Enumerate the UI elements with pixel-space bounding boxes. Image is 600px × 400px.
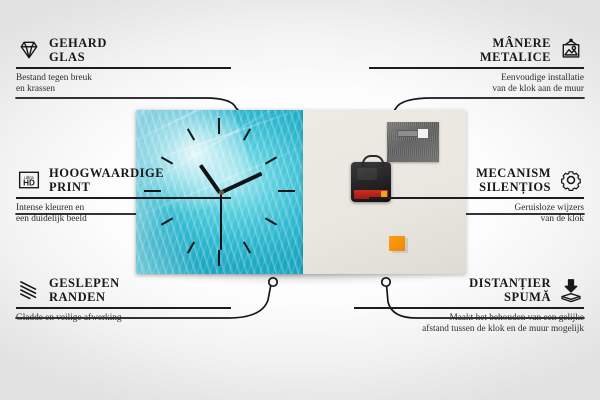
feature-title: GESLEPEN RANDEN bbox=[49, 276, 120, 304]
feature-rule bbox=[369, 197, 584, 199]
clock-tick-2 bbox=[265, 156, 277, 164]
diamond-icon bbox=[16, 37, 42, 63]
gear-icon bbox=[558, 167, 584, 193]
feature-title: MÂNERE METALICE bbox=[480, 36, 551, 64]
feature-description: Intense kleuren en een duidelijk beeld bbox=[16, 203, 231, 226]
diagonal-lines-icon bbox=[16, 277, 42, 303]
feature-header: MECANISM SILENȚIOS bbox=[369, 166, 584, 194]
feature-rule bbox=[369, 67, 584, 69]
feature-manere-metalice: MÂNERE METALICE Eenvoudige installatie v… bbox=[369, 36, 584, 96]
clock-tick-3 bbox=[278, 190, 295, 192]
feature-header: ultra HD HOOGWAARDIGE PRINT bbox=[16, 166, 231, 194]
feature-title: GEHARD GLAS bbox=[49, 36, 107, 64]
feature-title: MECANISM SILENȚIOS bbox=[476, 166, 551, 194]
feature-header: GESLEPEN RANDEN bbox=[16, 276, 231, 304]
feature-rule bbox=[16, 67, 231, 69]
hanger-slot-secondary bbox=[417, 128, 429, 139]
feature-description: Eenvoudige installatie van de klok aan d… bbox=[369, 73, 584, 96]
arrow-onto-layers-icon bbox=[558, 277, 584, 303]
clock-tick-4 bbox=[265, 217, 277, 225]
feature-gehard-glas: GEHARD GLAS Bestand tegen breuk en krass… bbox=[16, 36, 231, 96]
feature-title: HOOGWAARDIGE PRINT bbox=[49, 166, 164, 194]
clock-tick-1 bbox=[243, 128, 251, 140]
ultra-hd-icon: ultra HD bbox=[16, 167, 42, 193]
feature-hoogwaardige-print: ultra HD HOOGWAARDIGE PRINT Intense kleu… bbox=[16, 166, 231, 226]
feature-description: Geruisloze wijzers van de klok bbox=[369, 203, 584, 226]
feature-description: Bestand tegen breuk en krassen bbox=[16, 73, 231, 96]
clock-tick-7 bbox=[187, 241, 195, 253]
feature-rule bbox=[16, 307, 231, 309]
feature-description: Gladde en veilige afwerking bbox=[16, 313, 231, 325]
feature-rule bbox=[354, 307, 584, 309]
svg-text:HD: HD bbox=[23, 179, 35, 188]
feature-header: MÂNERE METALICE bbox=[369, 36, 584, 64]
feature-rule bbox=[16, 197, 231, 199]
infographic-canvas: GEHARD GLAS Bestand tegen breuk en krass… bbox=[0, 0, 600, 400]
feature-header: DISTANȚIER SPUMĂ bbox=[354, 276, 584, 304]
feature-mecanism-silentios: MECANISM SILENȚIOS Geruisloze wijzers va… bbox=[369, 166, 584, 226]
framed-picture-hanging-icon bbox=[558, 37, 584, 63]
feature-distantier-spuma: DISTANȚIER SPUMĂ Maakt het behouden van … bbox=[354, 276, 584, 336]
feature-title: DISTANȚIER SPUMĂ bbox=[469, 276, 551, 304]
foam-spacer bbox=[389, 236, 405, 251]
metal-hanger-plate bbox=[387, 122, 439, 162]
clock-tick-6 bbox=[218, 250, 220, 266]
clock-tick-5 bbox=[243, 241, 251, 253]
feature-header: GEHARD GLAS bbox=[16, 36, 231, 64]
clock-tick-12 bbox=[218, 118, 220, 134]
feature-geslepen-randen: GESLEPEN RANDEN Gladde en veilige afwerk… bbox=[16, 276, 231, 324]
feature-description: Maakt het behouden van een gelijke afsta… bbox=[354, 313, 584, 336]
